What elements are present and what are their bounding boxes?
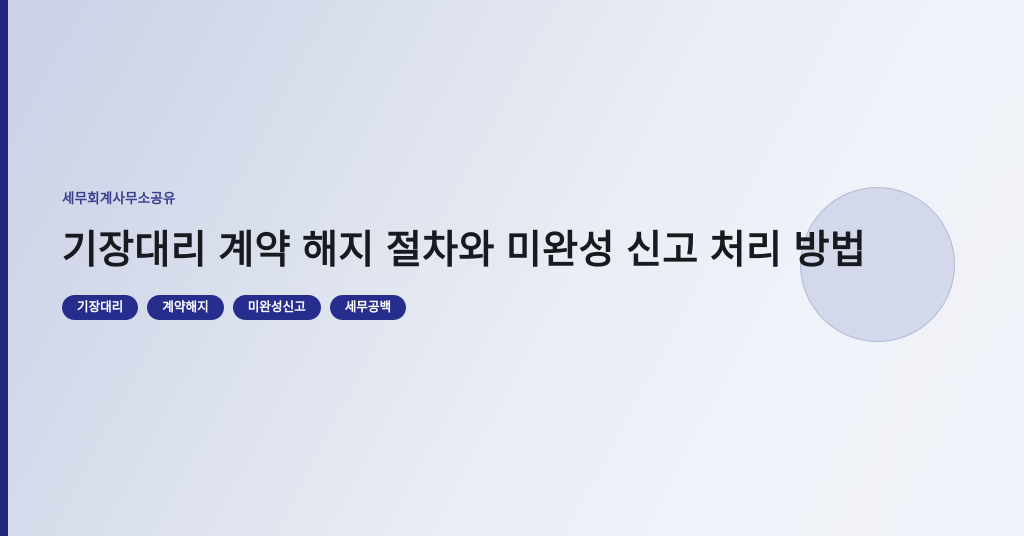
tag-pill[interactable]: 미완성신고 — [233, 295, 321, 320]
page-title: 기장대리 계약 해지 절차와 미완성 신고 처리 방법 — [62, 228, 962, 273]
tag-pill[interactable]: 기장대리 — [62, 295, 138, 320]
tag-pill[interactable]: 세무공백 — [330, 295, 406, 320]
tag-pill[interactable]: 계약해지 — [147, 295, 223, 320]
tag-list: 기장대리 계약해지 미완성신고 세무공백 — [62, 295, 962, 320]
eyebrow-label: 세무회계사무소공유 — [62, 192, 962, 206]
hero-content: 세무회계사무소공유 기장대리 계약 해지 절차와 미완성 신고 처리 방법 기장… — [62, 192, 962, 320]
hero-banner: 세무회계사무소공유 기장대리 계약 해지 절차와 미완성 신고 처리 방법 기장… — [0, 0, 1024, 536]
left-accent-stripe — [0, 0, 8, 536]
